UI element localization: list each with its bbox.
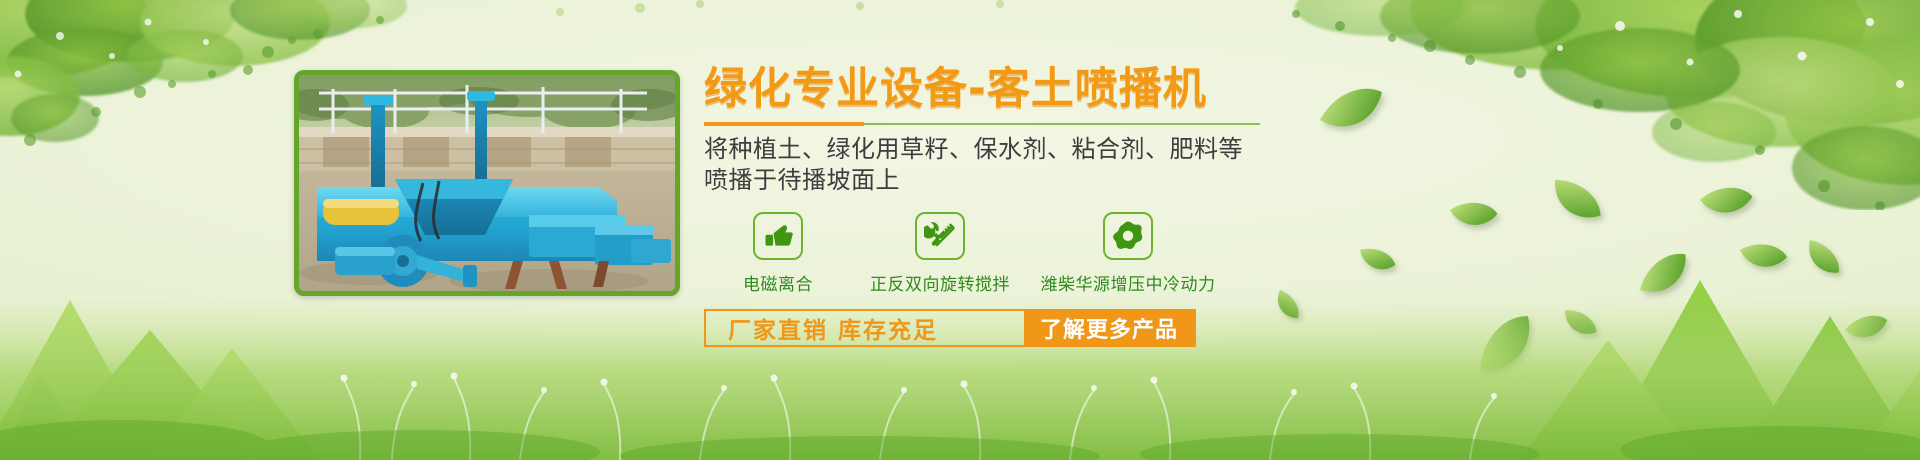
feature-item-electromagnetic-clutch[interactable]: 电磁离合 <box>704 212 852 295</box>
feature-label: 潍柴华源增压中冷动力 <box>1041 270 1216 295</box>
product-photo <box>299 75 675 291</box>
feature-icon-box <box>753 212 803 260</box>
feature-item-engine-power[interactable]: 潍柴华源增压中冷动力 <box>1028 212 1228 295</box>
promo-banner: 绿化专业设备-客土喷播机 将种植土、绿化用草籽、保水剂、粘合剂、肥料等 喷播于待… <box>0 0 1920 460</box>
feature-icon-box <box>1103 212 1153 260</box>
divider-green-segment <box>864 123 1260 125</box>
feature-label: 正反双向旋转搅拌 <box>870 270 1010 295</box>
title-divider <box>704 122 1260 126</box>
subtitle-line-1: 将种植土、绿化用草籽、保水剂、粘合剂、肥料等 <box>704 134 1324 165</box>
cta-bar: 厂家直销 库存充足 了解更多产品 <box>704 309 1196 347</box>
thumbs-up-icon <box>763 222 793 250</box>
product-photo-frame[interactable] <box>294 70 680 296</box>
feature-item-bidirectional-mixing[interactable]: 正反双向旋转搅拌 <box>852 212 1028 295</box>
subtitle-line-2: 喷播于待播坡面上 <box>704 165 1324 196</box>
wrench-screwdriver-icon <box>924 221 956 251</box>
divider-orange-segment <box>704 122 864 126</box>
learn-more-button[interactable]: 了解更多产品 <box>1024 311 1194 345</box>
feature-label: 电磁离合 <box>743 270 813 295</box>
page-title: 绿化专业设备-客土喷播机 <box>704 66 1324 112</box>
cta-slogan: 厂家直销 库存充足 <box>706 311 1024 345</box>
gear-ring-icon <box>1113 221 1143 251</box>
feature-icon-box <box>915 212 965 260</box>
banner-content: 绿化专业设备-客土喷播机 将种植土、绿化用草籽、保水剂、粘合剂、肥料等 喷播于待… <box>704 66 1324 347</box>
feature-list: 电磁离合 <box>704 212 1324 295</box>
